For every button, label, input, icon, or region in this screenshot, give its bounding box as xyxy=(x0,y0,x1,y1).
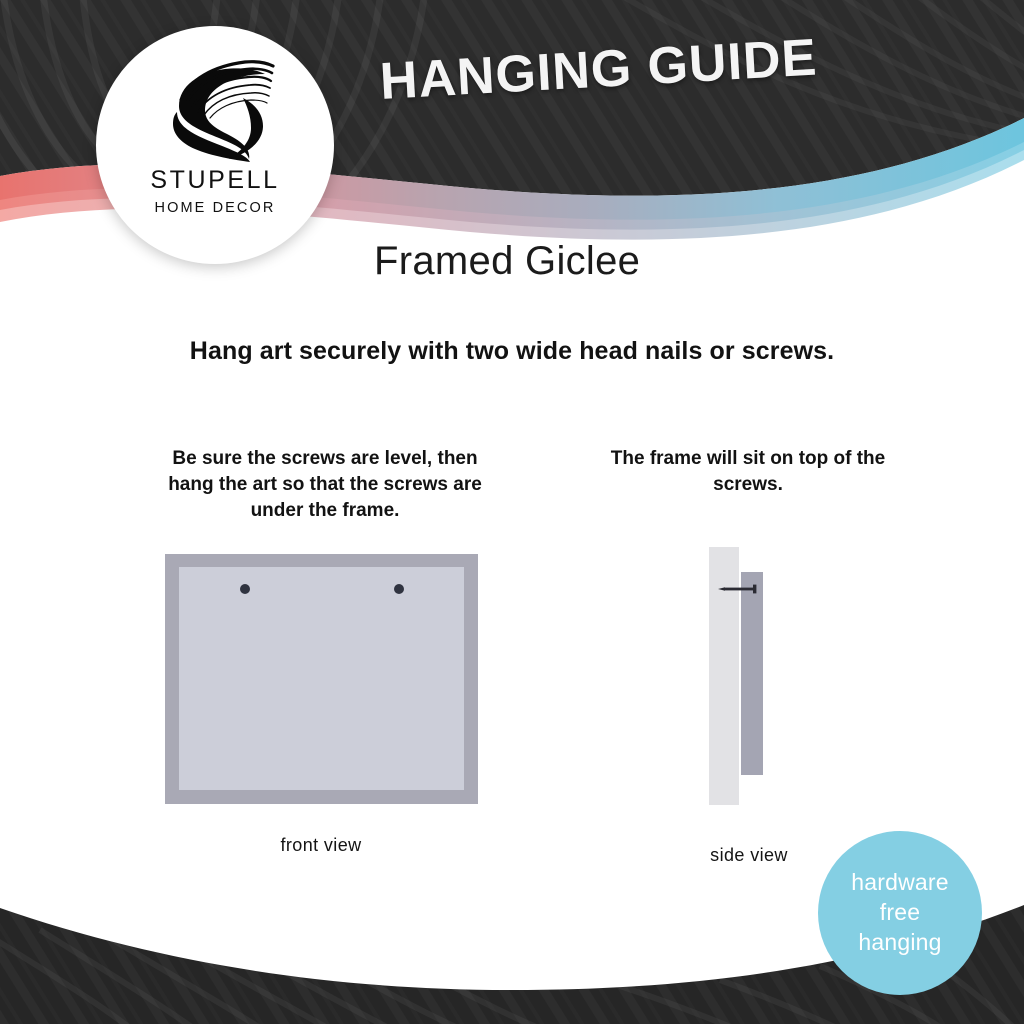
brand-tagline: HOME DECOR xyxy=(155,201,276,216)
front-view-label: front view xyxy=(171,835,471,856)
hardware-free-hanging-badge: hardware free hanging xyxy=(818,831,982,995)
badge-line-2: free xyxy=(880,898,920,928)
screw-dot-left xyxy=(240,584,250,594)
product-type-title: Framed Giclee xyxy=(374,239,640,284)
picture-frame-outer xyxy=(165,554,478,804)
side-view-label: side view xyxy=(639,845,859,866)
side-view-diagram xyxy=(709,547,789,807)
nail-icon xyxy=(718,584,762,594)
front-view-diagram xyxy=(165,554,478,804)
page-title: HANGING GUIDE xyxy=(378,28,818,112)
brand-logo-badge: STUPELL HOME DECOR xyxy=(96,26,334,264)
badge-line-1: hardware xyxy=(851,868,949,898)
badge-line-3: hanging xyxy=(858,928,941,958)
main-instruction-text: Hang art securely with two wide head nai… xyxy=(0,337,1024,366)
stupell-swoosh-logo-icon xyxy=(155,52,275,164)
brand-name: STUPELL xyxy=(150,168,279,193)
hanging-guide-page: STUPELL HOME DECOR HANGING GUIDE Framed … xyxy=(0,0,1024,1024)
front-view-caption: Be sure the screws are level, then hang … xyxy=(160,446,490,525)
screw-dot-right xyxy=(394,584,404,594)
side-view-caption: The frame will sit on top of the screws. xyxy=(588,446,908,498)
picture-frame-inner xyxy=(179,567,464,790)
frame-side-strip xyxy=(741,572,763,775)
